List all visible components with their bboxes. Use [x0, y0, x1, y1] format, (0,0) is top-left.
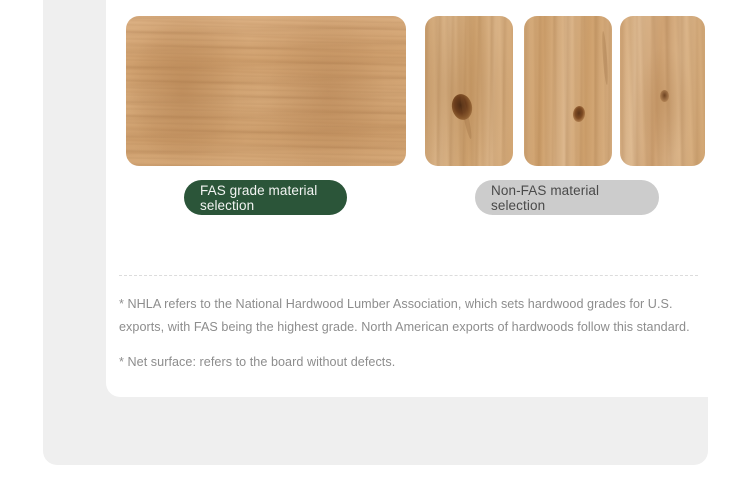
- footnote-nhla: * NHLA refers to the National Hardwood L…: [119, 293, 721, 339]
- wood-sample-non-fas-board-1[interactable]: [425, 16, 513, 166]
- grade-badge-fas[interactable]: FAS grade material selection: [184, 180, 347, 215]
- wood-sample-non-fas-board-2[interactable]: [524, 16, 612, 166]
- wood-mineral-streak-icon: [660, 90, 669, 102]
- outer-panel: FAS grade material selection Non-FAS mat…: [43, 0, 708, 465]
- footnote-group: * NHLA refers to the National Hardwood L…: [119, 293, 721, 374]
- wood-sample-non-fas-board-3[interactable]: [620, 16, 705, 166]
- footnote-net-surface: * Net surface: refers to the board witho…: [119, 351, 524, 374]
- grade-badge-non-fas[interactable]: Non-FAS material selection: [475, 180, 659, 215]
- grade-badge-fas-label: FAS grade material selection: [200, 183, 331, 213]
- grade-label-row: FAS grade material selection Non-FAS mat…: [106, 180, 733, 216]
- dashed-divider: [119, 275, 698, 276]
- content-card: FAS grade material selection Non-FAS mat…: [106, 0, 733, 397]
- wood-sample-fas-clean-board[interactable]: [126, 16, 406, 166]
- wood-sample-row: [126, 16, 725, 166]
- grade-badge-non-fas-label: Non-FAS material selection: [491, 183, 643, 213]
- wood-knot-icon: [572, 105, 586, 123]
- wood-grain-streak-icon: [601, 31, 609, 85]
